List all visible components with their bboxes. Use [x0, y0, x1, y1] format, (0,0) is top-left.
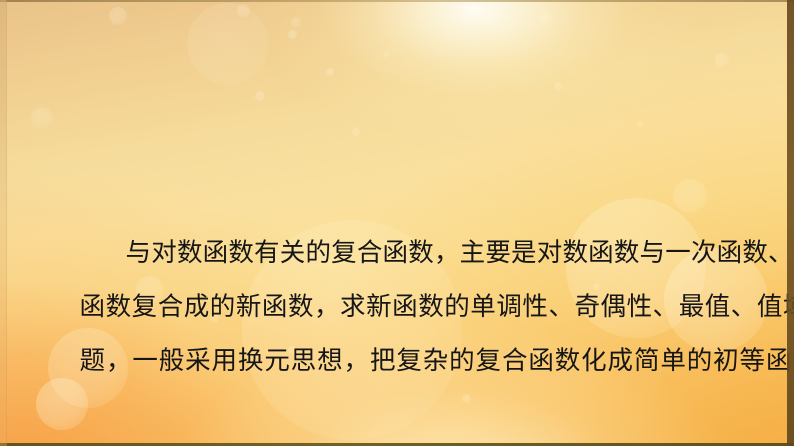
bokeh-top-right-b — [540, 13, 551, 24]
slide-border-right — [787, 0, 794, 446]
slide-paragraph: 与对数函数有关的复合函数，主要是对数函数与一次函数、二次函数复合成的新函数，求新… — [26, 226, 768, 388]
bokeh-right-upper — [715, 53, 729, 67]
bokeh-top-mid-b — [291, 17, 301, 27]
bokeh-upper-dot-4 — [255, 91, 265, 101]
bokeh-upper-dot-3 — [383, 51, 390, 58]
bokeh-upper-dot-2 — [326, 68, 334, 76]
bokeh-top-left-small — [109, 7, 127, 25]
text-line-1: 与对数函数有关的复合函数，主要是对数函数与一次函数、二次 — [26, 226, 768, 280]
text-line-3: 题，一般采用换元思想，把复杂的复合函数化成简单的初等函数. — [26, 334, 768, 388]
presentation-slide: 与对数函数有关的复合函数，主要是对数函数与一次函数、二次函数复合成的新函数，求新… — [0, 0, 794, 446]
bokeh-upper-dot-1 — [288, 30, 297, 39]
bokeh-top-ring — [187, 3, 269, 85]
text-line-2: 函数复合成的新函数，求新函数的单调性、奇偶性、最值、值域等问 — [26, 280, 768, 334]
slide-body-text: 与对数函数有关的复合函数，主要是对数函数与一次函数、二次函数复合成的新函数，求新… — [26, 118, 768, 446]
bokeh-mid-dot-2 — [554, 82, 563, 91]
bokeh-top-mid-a — [237, 4, 250, 17]
slide-border-left-hairline — [6, 0, 7, 446]
slide-border-top — [0, 0, 794, 2]
bokeh-top-right-a — [462, 0, 478, 16]
